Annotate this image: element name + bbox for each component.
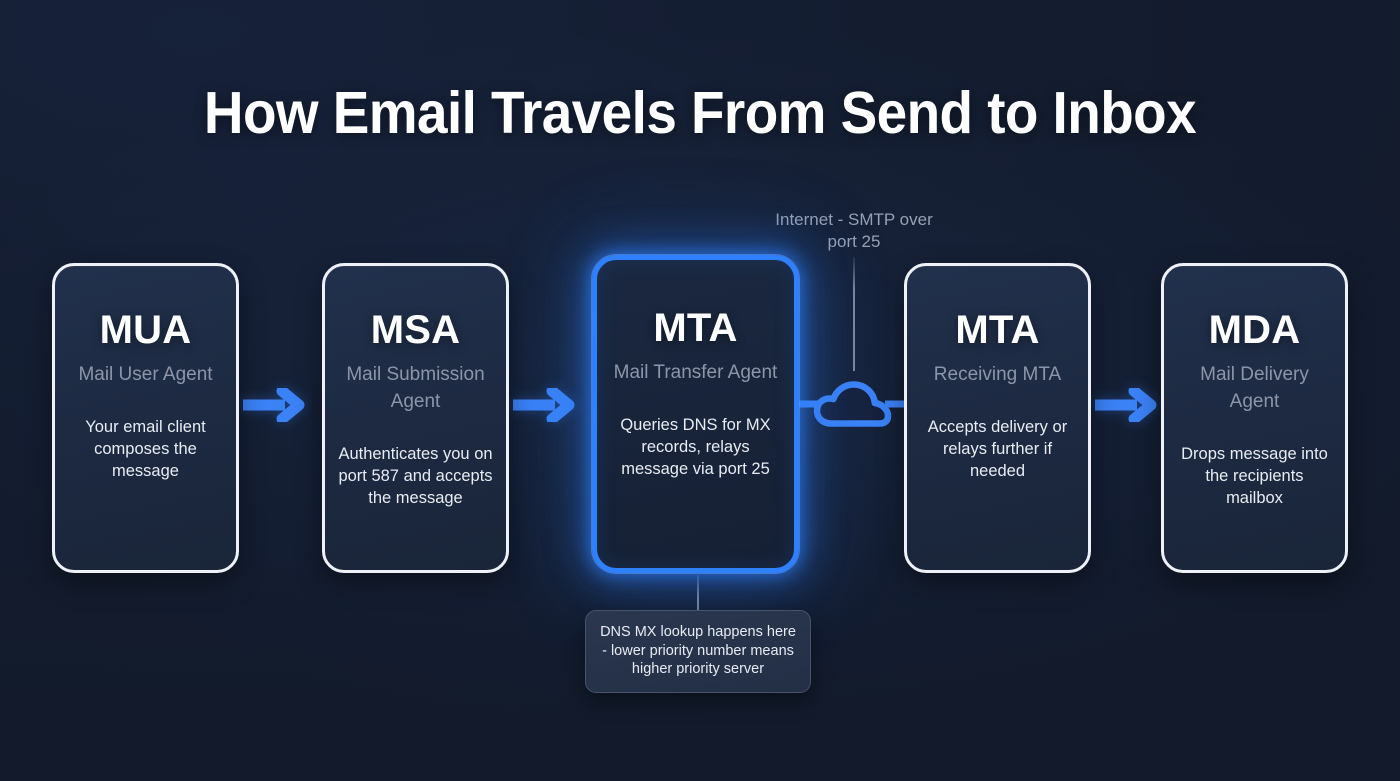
stage-code: MUA xyxy=(100,308,192,352)
stage-card-receiving-mta[interactable]: MTA Receiving MTA Accepts delivery or re… xyxy=(904,263,1091,573)
arrow-msa-to-mta xyxy=(513,388,575,422)
stage-subtitle: Receiving MTA xyxy=(924,361,1071,388)
page-title: How Email Travels From Send to Inbox xyxy=(49,78,1351,148)
stage-code: MDA xyxy=(1209,308,1301,352)
stage-subtitle: Mail Delivery Agent xyxy=(1164,361,1345,415)
diagram-canvas: How Email Travels From Send to Inbox MUA… xyxy=(0,0,1400,781)
stage-card-mta-highlighted[interactable]: MTA Mail Transfer Agent Queries DNS for … xyxy=(592,255,799,573)
callout-stem xyxy=(697,575,699,611)
stage-subtitle: Mail User Agent xyxy=(68,361,222,388)
stage-card-msa[interactable]: MSA Mail Submission Agent Authenticates … xyxy=(322,263,509,573)
network-link-label: Internet - SMTP over port 25 xyxy=(764,209,944,253)
arrow-receiving-mta-to-mda xyxy=(1095,388,1157,422)
stage-description: Your email client composes the message xyxy=(55,416,236,482)
stage-description: Accepts delivery or relays further if ne… xyxy=(907,416,1088,482)
stage-subtitle: Mail Transfer Agent xyxy=(604,359,788,386)
stage-description: Authenticates you on port 587 and accept… xyxy=(325,443,506,509)
stage-code: MTA xyxy=(955,308,1039,352)
stage-description: Drops message into the recipients mailbo… xyxy=(1164,443,1345,509)
stage-card-mda[interactable]: MDA Mail Delivery Agent Drops message in… xyxy=(1161,263,1348,573)
stage-code: MSA xyxy=(371,308,461,352)
cloud-icon xyxy=(799,373,911,435)
callout-tooltip: DNS MX lookup happens here - lower prior… xyxy=(585,610,811,693)
network-link-stem xyxy=(853,257,855,371)
stage-code: MTA xyxy=(653,306,737,350)
stage-subtitle: Mail Submission Agent xyxy=(325,361,506,415)
arrow-mua-to-msa xyxy=(243,388,305,422)
stage-card-mua[interactable]: MUA Mail User Agent Your email client co… xyxy=(52,263,239,573)
stage-description: Queries DNS for MX records, relays messa… xyxy=(597,414,794,480)
